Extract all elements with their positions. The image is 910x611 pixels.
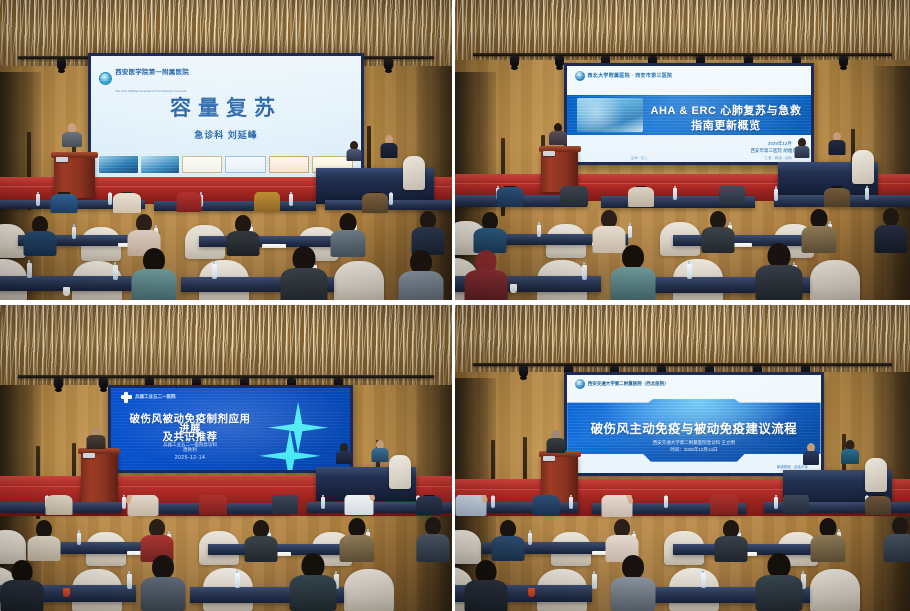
water-bottle [628, 226, 632, 238]
audience-torso [801, 226, 836, 253]
audience-member [714, 520, 748, 562]
slide-title-line1: AHA & ERC 心肺复苏与急救 [650, 102, 801, 118]
audience-torso [227, 231, 260, 256]
water-bottle [321, 497, 325, 509]
panelist-torso [336, 451, 352, 464]
hospital-aerial-photo [577, 98, 643, 133]
audience-member [398, 250, 444, 300]
water-bottle [108, 193, 112, 205]
panelist [828, 132, 846, 155]
audience-member [532, 495, 560, 516]
audience-head [425, 517, 441, 535]
water-bottle [774, 497, 778, 509]
audience-member [140, 555, 186, 611]
audience-torso [245, 536, 278, 562]
panelist-torso [841, 449, 859, 464]
water-bottle [537, 225, 541, 237]
speaker-torso [86, 435, 105, 449]
slide-title-line2: 指南更新概览 [650, 117, 801, 133]
audience-torso [783, 495, 809, 514]
audience-member [45, 495, 73, 516]
audience-torso [281, 268, 328, 300]
speaker-torso [62, 132, 82, 147]
audience-member [610, 555, 656, 611]
panelist-torso [380, 143, 397, 158]
panelist [380, 135, 398, 158]
audience-torso [344, 495, 373, 516]
panelist-torso [794, 146, 809, 158]
audience-torso [177, 192, 202, 212]
speaker-at-lectern [86, 427, 106, 449]
audience-torso [28, 536, 61, 561]
ceiling-crystal-chandelier [455, 0, 910, 60]
audience-head [883, 208, 899, 226]
audience-member [362, 192, 389, 213]
audience-torso [465, 270, 508, 300]
audience-head [892, 517, 908, 535]
audience-member [271, 495, 298, 514]
water-bottle [36, 194, 40, 206]
audience-torso [290, 575, 337, 611]
presentation-screen[interactable]: 西北大学附属医院 · 西安市第三医院 AHA & ERC 心肺复苏与急救 指南更… [564, 63, 814, 165]
panelist-torso [829, 140, 846, 155]
stage-light-icon [519, 366, 528, 377]
slide-badge [141, 156, 179, 173]
water-bottle [701, 573, 706, 588]
audience-chair [455, 530, 481, 564]
audience-area [455, 495, 910, 611]
audience-torso [330, 230, 365, 257]
audience-member [416, 495, 443, 516]
audience-head [152, 555, 174, 579]
speaker-at-lectern [546, 430, 566, 453]
water-bottle [77, 533, 81, 545]
photo-panel-top-right[interactable]: 西北大学附属医院 · 西安市第三医院 AHA & ERC 心肺复苏与急救 指南更… [455, 0, 910, 300]
slide-header-name: 西北大学附属医院 · 西安市第三医院 [588, 72, 673, 79]
audience-area [0, 192, 452, 300]
audience-torso [416, 496, 442, 515]
audience-member [560, 186, 588, 206]
audience-member [411, 211, 445, 255]
audience-member [464, 560, 508, 611]
audience-torso [1, 580, 44, 611]
slide-subtitle-line1: 西安交通大学第二附属医院急诊科 王立明 [567, 440, 820, 446]
slide-badge [182, 156, 222, 173]
audience-torso [865, 496, 891, 515]
audience-torso [50, 194, 77, 213]
photo-panel-top-left[interactable]: 西安医学院第一附属医院 The First Affiliated Hospita… [0, 0, 452, 300]
water-bottle [127, 574, 132, 589]
ceiling-crystal-chandelier [0, 305, 452, 385]
slide-header: 兵器工业五二一医院 [121, 392, 176, 403]
water-bottle [389, 193, 393, 205]
photo-panel-bottom-right[interactable]: 西安交通大学第二附属医院（西北医院） 破伤风主动免疫与被动免疫建议流程 西安交通… [455, 305, 910, 611]
vip-chair [403, 156, 425, 190]
photo-panel-bottom-left[interactable]: 兵器工业五二一医院 破伤风被动免疫制剂应用 进展 及共识推荐 兵器工业五二一医院… [0, 305, 452, 611]
audience-torso [560, 186, 588, 206]
panelist-torso [803, 451, 819, 465]
audience-torso [132, 269, 177, 300]
ceiling-shadow [0, 348, 452, 385]
water-bottle [569, 497, 573, 509]
audience-member [783, 495, 810, 514]
audience-torso [416, 534, 449, 562]
laptop-icon [543, 456, 555, 461]
audience-member [244, 520, 278, 562]
audience-member [496, 186, 524, 207]
medical-cross-icon [121, 392, 132, 403]
audience-member [464, 250, 508, 300]
audience-torso [824, 188, 850, 207]
water-bottle [72, 227, 76, 239]
panelist [346, 141, 362, 161]
audience-member [610, 245, 656, 300]
audience-torso [199, 495, 227, 515]
audience-chair [810, 569, 860, 611]
audience-member [810, 518, 846, 562]
audience-member [416, 517, 450, 562]
water-bottle [212, 264, 217, 279]
lighting-truss [473, 53, 892, 56]
audience-member [280, 246, 328, 300]
water-bottle [27, 263, 32, 278]
audience-member [176, 192, 202, 212]
audience-member [330, 213, 366, 257]
audience-member [883, 517, 910, 562]
audience-member [628, 186, 655, 207]
audience-torso [701, 227, 734, 253]
audience-member [199, 495, 227, 515]
water-bottle [113, 265, 118, 280]
audience-area [455, 186, 910, 300]
water-bottle [592, 574, 597, 589]
audience-torso [810, 535, 845, 562]
slide-badge-strip [99, 156, 353, 173]
sparkle-icon [259, 429, 321, 473]
audience-torso [254, 192, 280, 212]
speaker-torso [547, 438, 566, 453]
slide-header-name: 西安医学院第一附属医院 [115, 69, 189, 76]
presentation-screen[interactable]: 西安交通大学第二附属医院（西北医院） 破伤风主动免疫与被动免疫建议流程 西安交通… [564, 372, 823, 476]
water-bottle [289, 194, 293, 206]
audience-chair [334, 261, 384, 300]
water-bottle [235, 573, 240, 588]
panelist [802, 443, 819, 465]
audience-member [701, 211, 735, 253]
audience-torso [719, 186, 745, 205]
audience-head [622, 555, 644, 579]
audience-chair [810, 260, 860, 300]
audience-member-photographing [127, 495, 159, 516]
slide-subtitle: 急诊科 刘延峰 [91, 128, 361, 141]
hospital-emblem-icon [99, 72, 112, 85]
audience-member [874, 208, 908, 253]
audience-torso [398, 271, 443, 300]
panelist [336, 443, 353, 464]
water-bottle [491, 496, 495, 508]
slide-title: 破伤风主动免疫与被动免疫建议流程 [577, 418, 810, 437]
slide-subtitle-line1: 2025年12月 [768, 141, 792, 147]
sparkle-icon [268, 402, 328, 454]
slide-badge [225, 156, 265, 173]
vip-chair [852, 150, 874, 184]
audience-torso [628, 187, 654, 207]
slide-subtitle-line2: 时间：2025年12月14日 [567, 447, 820, 453]
slide-presenter: 唐秋利 [121, 447, 259, 453]
water-bottle [687, 264, 692, 279]
lighting-truss [473, 363, 892, 366]
laptop-icon [83, 453, 95, 458]
audience-member [226, 215, 260, 256]
slide-header: 西安交通大学第二附属医院（西北医院） [575, 379, 669, 389]
audience-chair [0, 530, 26, 564]
audience-torso [465, 580, 508, 611]
audience-member [23, 216, 57, 256]
audience-member [339, 518, 375, 562]
slide-subtitle-line2: 西安市第三医院 胡雅东 [751, 148, 797, 154]
audience-torso [113, 193, 141, 213]
audience-member [113, 192, 141, 213]
water-bottle [865, 188, 869, 200]
audience-member [801, 209, 837, 253]
audience-torso [610, 267, 655, 300]
university-emblem-icon [575, 379, 585, 389]
laptop-icon [543, 151, 555, 156]
paper-cup [510, 284, 517, 293]
audience-torso [496, 187, 523, 207]
audience-member [710, 495, 738, 515]
audience-torso [715, 536, 748, 562]
stage-light-icon [555, 56, 564, 67]
slide-badge [99, 156, 137, 173]
hospital-emblem-icon [575, 71, 585, 81]
slide-badge [269, 156, 309, 173]
audience-chair [344, 569, 394, 611]
audience-torso [492, 536, 525, 561]
slide-header-name: 西安交通大学第二附属医院（西北医院） [588, 381, 669, 387]
audience-member [289, 553, 337, 611]
laptop-icon [56, 157, 68, 162]
slide-title: 容量复苏 [91, 92, 361, 122]
lighting-truss [18, 375, 434, 378]
audience-member [50, 192, 78, 213]
panelist [794, 138, 810, 158]
audience-torso [756, 265, 803, 300]
water-bottle [528, 533, 532, 545]
paper-cup [528, 588, 535, 597]
audience-member [27, 520, 61, 561]
stage-light-icon [384, 59, 393, 70]
audience-torso [710, 495, 738, 515]
audience-member [824, 186, 851, 207]
slide-header: 西北大学附属医院 · 西安市第三医院 [575, 71, 673, 81]
audience-member-photographing [601, 495, 633, 517]
stage-light-icon [57, 59, 66, 70]
audience-head [622, 245, 644, 269]
paper-cup [63, 287, 70, 296]
audience-torso [756, 575, 803, 611]
photo-collage: 西安医学院第一附属医院 The First Affiliated Hospita… [0, 0, 910, 611]
water-bottle [673, 188, 677, 200]
audience-member [755, 243, 803, 300]
panelist-torso [346, 149, 361, 161]
audience-torso [23, 231, 56, 256]
audience-torso [874, 225, 907, 253]
slide-footer-left: 生命 · 至上 [631, 156, 648, 161]
audience-member [0, 560, 44, 611]
slide-header-name: 兵器工业五二一医院 [135, 394, 176, 400]
audience-torso [272, 495, 298, 514]
audience-member [865, 495, 892, 516]
audience-torso [340, 535, 375, 562]
audience-torso [46, 495, 73, 515]
audience-area [0, 495, 452, 611]
audience-member [755, 553, 803, 611]
audience-torso [533, 495, 560, 515]
audience-torso [883, 534, 910, 562]
slide-date: 2025-12-14 [121, 455, 259, 461]
speaker-torso [549, 131, 567, 145]
slide-footer-right: 仁爱 · 精诚 · 创新 [765, 156, 792, 161]
speaker-at-lectern [548, 123, 567, 145]
audience-member [131, 248, 177, 300]
audience-member [491, 520, 525, 561]
audience-member-photographing [344, 495, 374, 516]
panelist [841, 440, 860, 464]
vip-chair [389, 455, 411, 489]
stage-light-icon [510, 56, 519, 67]
water-bottle [664, 496, 668, 508]
presentation-screen[interactable]: 兵器工业五二一医院 破伤风被动免疫制剂应用 进展 及共识推荐 兵器工业五二一医院… [108, 385, 352, 474]
audience-torso [141, 577, 186, 611]
vip-chair [865, 458, 887, 492]
panelist-torso [371, 448, 388, 462]
audience-member [719, 186, 746, 205]
paper-cup [63, 588, 70, 597]
audience-member [473, 212, 507, 253]
audience-member [253, 192, 280, 212]
panelist [371, 440, 389, 462]
audience-torso [610, 577, 655, 611]
stage-light-icon [839, 56, 848, 67]
water-bottle [774, 189, 778, 201]
audience-torso [362, 193, 388, 213]
water-bottle [582, 265, 587, 280]
audience-member-photographing [455, 495, 487, 516]
speaker-at-lectern [61, 123, 83, 147]
